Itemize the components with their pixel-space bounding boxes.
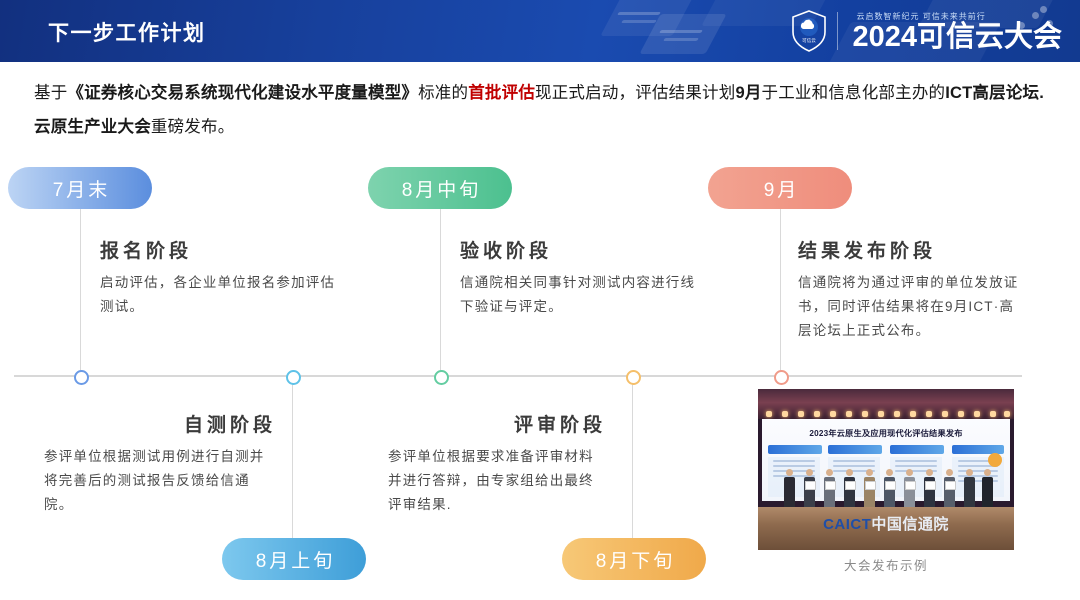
photo-stage-brand: CAICT中国信通院 [758, 513, 1014, 534]
stage-title: 验收阶段 [460, 236, 700, 263]
stage-title: 自测阶段 [44, 410, 276, 437]
pill-label: 7月末 [50, 175, 111, 202]
timeline-pill-1[interactable]: 7月末 [8, 167, 152, 209]
timeline-stem-1 [80, 209, 81, 375]
stage-block-1: 报名阶段 启动评估，各企业单位报名参加评估测试。 [100, 236, 340, 319]
svg-text:可信云: 可信云 [803, 37, 817, 44]
timeline-axis [14, 375, 1022, 377]
stage-block-3: 验收阶段 信通院相关同事针对测试内容进行线下验证与评定。 [460, 236, 700, 319]
stage-body: 信通院相关同事针对测试内容进行线下验证与评定。 [460, 271, 700, 319]
photo-award-recipients [782, 457, 990, 507]
pill-label: 8月中旬 [399, 175, 482, 202]
photo-brand-en: CAICT [823, 516, 871, 533]
intro-seg-1: 基于 [34, 84, 67, 102]
photo-screen-orb [988, 453, 1002, 467]
stage-body: 参评单位根据测试用例进行自测并将完善后的测试报告反馈给信通院。 [44, 445, 276, 517]
pill-label: 9月 [761, 175, 800, 202]
conference-photo: 2023年云原生及应用现代化评估结果发布 CAICT中国信通院 [758, 389, 1014, 550]
timeline-stem-3 [440, 209, 441, 375]
intro-seg-3: 标准的 [418, 84, 468, 102]
stage-block-5: 结果发布阶段 信通院将为通过评审的单位发放证书，同时评估结果将在9月ICT·高层… [798, 236, 1022, 343]
stage-title: 结果发布阶段 [798, 236, 1022, 263]
stage-block-2: 自测阶段 参评单位根据测试用例进行自测并将完善后的测试报告反馈给信通院。 [44, 410, 276, 517]
intro-seg-8: 主办的 [895, 84, 945, 102]
intro-standard-name: 《证券核心交易系统现代化建设水平度量模型》 [67, 84, 418, 102]
stage-title: 报名阶段 [100, 236, 340, 263]
timeline-pill-3[interactable]: 8月中旬 [368, 167, 512, 209]
timeline-node-1[interactable] [74, 370, 89, 385]
stage-body: 启动评估，各企业单位报名参加评估测试。 [100, 271, 340, 319]
page-header: 下一步工作计划 可信云 云启数智新纪元 可信未来共前行 2024可信云大会 [0, 0, 1080, 62]
logo-divider [837, 12, 838, 50]
logo-tagline: 云启数智新纪元 可信未来共前行 [856, 11, 1062, 22]
conference-logo: 可信云 云启数智新纪元 可信未来共前行 2024可信云大会 [791, 0, 1062, 62]
stage-block-4: 评审阶段 参评单位根据要求准备评审材料并进行答辩，由专家组给出最终评审结果. [388, 410, 606, 517]
shield-cloud-icon: 可信云 [791, 10, 827, 52]
timeline-pill-2[interactable]: 8月上旬 [222, 538, 366, 580]
intro-paragraph: 基于《证券核心交易系统现代化建设水平度量模型》标准的首批评估现正式启动，评估结果… [34, 76, 1048, 144]
intro-seg-5: 现正式启动，评估结果计划 [535, 84, 735, 102]
stage-body: 信通院将为通过评审的单位发放证书，同时评估结果将在9月ICT·高层论坛上正式公布… [798, 271, 1022, 343]
timeline-stem-4 [632, 375, 633, 541]
photo-stage-lights [758, 409, 1014, 419]
photo-screen-title: 2023年云原生及应用现代化评估结果发布 [762, 427, 1010, 439]
photo-brand-cn: 中国信通院 [871, 516, 949, 533]
stage-title: 评审阶段 [388, 410, 606, 437]
intro-seg-7: 于工业和信息化部 [762, 84, 896, 102]
pill-label: 8月下旬 [593, 546, 676, 573]
intro-seg-10: 重磅发布。 [151, 118, 235, 136]
stage-body: 参评单位根据要求准备评审材料并进行答辩，由专家组给出最终评审结果. [388, 445, 606, 517]
page-title: 下一步工作计划 [48, 17, 206, 47]
timeline-node-3[interactable] [434, 370, 449, 385]
timeline-stem-2 [292, 375, 293, 541]
logo-title: 2024可信云大会 [852, 23, 1062, 52]
intro-month: 9月 [735, 84, 761, 102]
intro-highlight: 首批评估 [468, 84, 535, 102]
timeline-pill-4[interactable]: 8月下旬 [562, 538, 706, 580]
timeline-node-2[interactable] [286, 370, 301, 385]
timeline-pill-5[interactable]: 9月 [708, 167, 852, 209]
pill-label: 8月上旬 [253, 546, 336, 573]
timeline-stem-5 [780, 209, 781, 375]
photo-caption: 大会发布示例 [758, 555, 1014, 574]
timeline-node-5[interactable] [774, 370, 789, 385]
timeline-node-4[interactable] [626, 370, 641, 385]
